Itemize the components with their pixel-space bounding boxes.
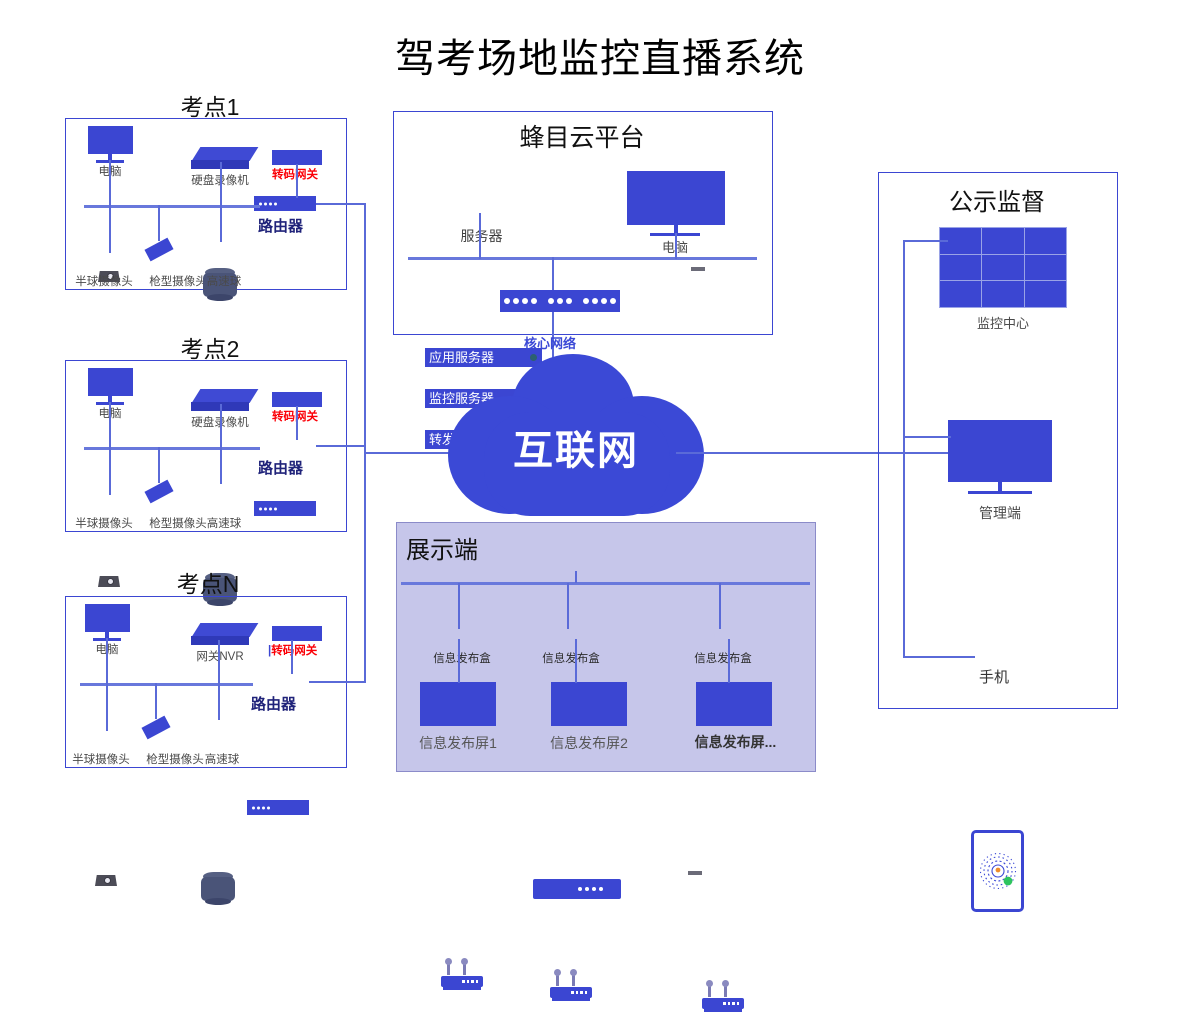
wire-to-admin-terminal (903, 436, 951, 438)
site-1-wire-gateway (296, 164, 298, 198)
info-screen-1[interactable] (420, 682, 496, 726)
wall-cell[interactable] (982, 255, 1023, 281)
site-n-recorder-top[interactable] (192, 623, 259, 637)
site-1-uplink-wire (316, 203, 366, 205)
router-port-dots (259, 507, 277, 510)
antenna-icon (708, 982, 711, 997)
info-box-3[interactable] (702, 998, 744, 1009)
site-2-computer-monitor[interactable] (88, 368, 133, 396)
router-port-dots (252, 806, 270, 809)
sites-trunk-wire (364, 203, 366, 683)
site-1-title: 考点1 (150, 88, 270, 122)
site-n-dome-camera-label: 半球摄像头 (63, 751, 139, 767)
site-2-wire-dome (109, 447, 111, 495)
info-screen-3[interactable] (696, 682, 772, 726)
display-switch[interactable] (533, 879, 621, 899)
internet-label: 互联网 (440, 418, 712, 476)
site-1-router-label: 路由器 (258, 215, 303, 236)
site-n-uplink-wire (309, 681, 366, 683)
site-1-dome-camera-label: 半球摄像头 (66, 273, 142, 289)
info-box-1-label: 信息发布盒 (424, 650, 500, 666)
bus-to-info-box-1-wire (458, 583, 460, 629)
bus-to-info-box-2-wire (567, 583, 569, 629)
site-1-router[interactable] (254, 196, 316, 211)
info-box-2-label: 信息发布盒 (533, 650, 609, 666)
site-1-gateway-device[interactable] (272, 150, 322, 165)
site-n-router-label: 路由器 (251, 693, 296, 714)
site-2-router-label: 路由器 (258, 457, 303, 478)
qr-code-icon (978, 851, 1018, 891)
info-box-3-to-screen-wire (728, 639, 730, 683)
info-screen-3-label: 信息发布屏... (688, 732, 783, 752)
site-n-title: 考点N (148, 565, 268, 599)
wall-cell[interactable] (940, 255, 981, 281)
wire-to-phone (903, 656, 975, 658)
mobile-phone-label: 手机 (964, 666, 1024, 687)
site-n-wire-dome (106, 683, 108, 731)
switch-port-dots (578, 887, 603, 891)
display-switch-to-bus-wire (575, 571, 577, 583)
info-box-2-to-screen-wire (575, 639, 577, 683)
page-title: 驾考场地监控直播系统 (0, 26, 1200, 84)
site-1-wire-ptz (220, 162, 222, 242)
info-screen-2[interactable] (551, 682, 627, 726)
servers-to-bus-wire (479, 213, 481, 259)
monitor-center-video-wall[interactable] (940, 228, 1066, 307)
site-2-wire-computer (109, 402, 111, 448)
core-network-label: 核心网络 (524, 333, 576, 352)
site-2-router[interactable] (254, 501, 316, 516)
info-box-port-dots (723, 1002, 739, 1005)
site-n-ptz-camera[interactable] (199, 872, 237, 905)
admin-monitor-stand (968, 491, 1032, 494)
site-1-recorder-top[interactable] (192, 147, 259, 161)
wall-cell[interactable] (982, 228, 1023, 254)
wire-to-video-wall (903, 240, 948, 242)
info-box-1-to-screen-wire (458, 639, 460, 683)
antenna-icon (572, 971, 575, 986)
admin-terminal-label: 管理端 (968, 503, 1032, 523)
info-box-1[interactable] (441, 976, 483, 987)
site-1-wire-dome (109, 205, 111, 253)
info-screen-2-label: 信息发布屏2 (546, 733, 632, 753)
wall-cell[interactable] (1025, 255, 1066, 281)
site-2-gateway-device[interactable] (272, 392, 322, 407)
site-n-wire-gateway (291, 640, 293, 674)
site-2-dome-camera-label: 半球摄像头 (66, 515, 142, 531)
cloud-monitor-neck (674, 225, 678, 233)
wall-cell[interactable] (1025, 281, 1066, 307)
site-n-wire-ptz (218, 640, 220, 720)
cloud-computer-monitor[interactable] (627, 171, 725, 225)
site-2-uplink-wire (316, 445, 366, 447)
core-switch[interactable] (500, 290, 620, 312)
site-2-recorder-top[interactable] (192, 389, 259, 403)
bus-to-core-switch-wire (552, 257, 554, 290)
antenna-icon (724, 982, 727, 997)
site-2-wire-ptz (220, 404, 222, 484)
site-1-ptz-camera-label: 高速球 (196, 273, 252, 289)
admin-terminal-monitor[interactable] (948, 420, 1052, 482)
info-box-port-dots (571, 991, 587, 994)
site-n-dome-camera[interactable] (95, 871, 1200, 886)
bus-to-info-box-3-wire (719, 583, 721, 629)
info-box-3-label: 信息发布盒 (685, 650, 761, 666)
site-1-wire-computer (109, 160, 111, 206)
router-port-dots (259, 202, 277, 205)
site-n-recorder-front[interactable] (191, 636, 249, 645)
wall-cell[interactable] (1025, 228, 1066, 254)
site-n-ptz-camera-label: 高速球 (194, 751, 250, 767)
site-2-wire-bullet (158, 447, 160, 483)
monitor-center-label: 监控中心 (968, 313, 1038, 332)
antenna-icon (463, 960, 466, 975)
wall-cell[interactable] (940, 281, 981, 307)
site-n-wire-bullet (155, 683, 157, 719)
info-box-2[interactable] (550, 987, 592, 998)
site-n-wire-computer (106, 638, 108, 684)
mobile-phone[interactable] (971, 830, 1024, 912)
site-2-wire-gateway (296, 406, 298, 440)
info-screen-1-label: 信息发布屏1 (415, 733, 501, 753)
internet-cloud[interactable]: 互联网 (440, 352, 712, 532)
cloud-platform-bus (408, 257, 757, 260)
admin-monitor-neck (998, 482, 1002, 491)
site-2-title: 考点2 (150, 330, 270, 364)
site-1-computer-monitor[interactable] (88, 126, 133, 154)
site-n-gateway-device[interactable] (272, 626, 322, 641)
site-n-computer-monitor[interactable] (85, 604, 130, 632)
site-n-router[interactable] (247, 800, 309, 815)
display-lan-bus (401, 582, 810, 585)
site-2-ptz-camera-label: 高速球 (196, 515, 252, 531)
cloud-platform-title: 蜂目云平台 (393, 118, 771, 154)
antenna-icon (447, 960, 450, 975)
info-box-port-dots (462, 980, 478, 983)
display-side-title: 展示端 (406, 530, 526, 565)
cloud-computer-to-bus-wire (675, 233, 677, 259)
supervision-title: 公示监督 (878, 182, 1116, 217)
wall-cell[interactable] (982, 281, 1023, 307)
supervision-trunk-wire (903, 240, 905, 658)
site-1-wire-bullet (158, 205, 160, 241)
antenna-icon (556, 971, 559, 986)
site-2-gateway-label: 转码网关 (272, 408, 318, 424)
servers-group-label: 服务器 (425, 226, 538, 246)
site-n-recorder-label: 网关NVR (180, 648, 260, 664)
site-1-gateway-label: 转码网关 (272, 166, 318, 182)
